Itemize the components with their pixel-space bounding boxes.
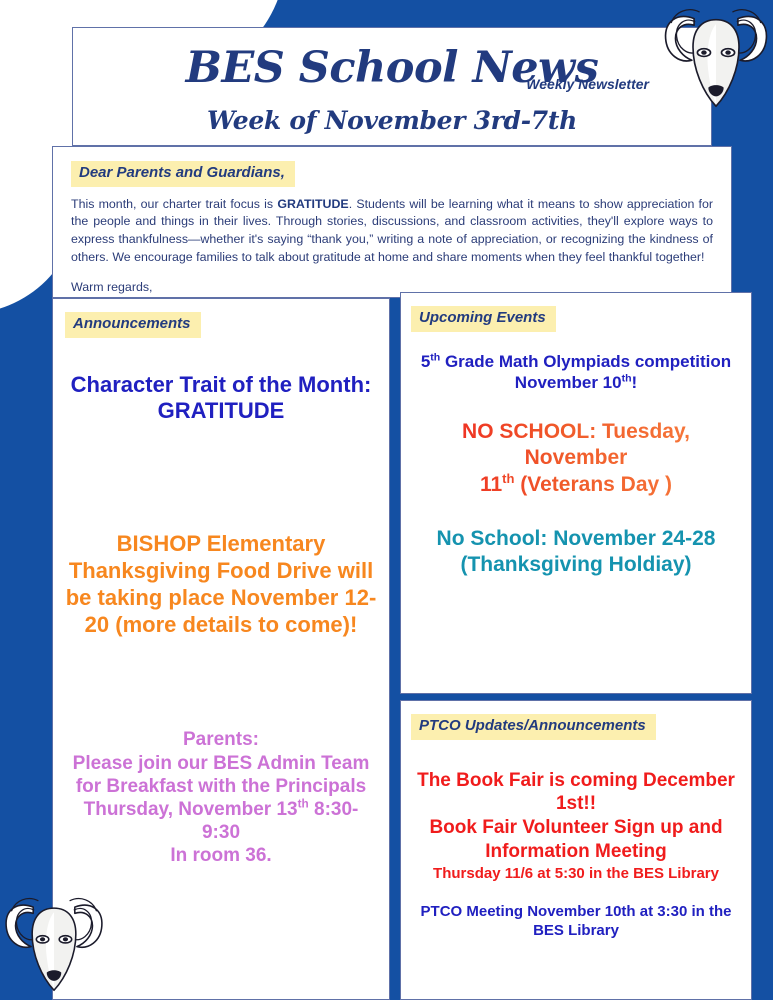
breakfast-line-4: Thursday, November 13th 8:30-9:30 — [65, 798, 377, 844]
weekly-newsletter-label: Weekly Newsletter — [526, 76, 649, 92]
upcoming-events-panel: Upcoming Events 5th Grade Math Olympiads… — [400, 292, 752, 694]
math-grade-sup: th — [430, 351, 440, 363]
letter-body-pre: This month, our charter trait focus is — [71, 197, 277, 211]
letter-body-bold: GRATITUDE — [277, 197, 348, 211]
breakfast-line-2: Please join our BES Admin Team — [65, 752, 377, 775]
newsletter-page: BES School News Weekly Newsletter Week o… — [0, 0, 773, 1000]
math-title: Grade Math Olympiads competition — [440, 352, 731, 371]
letter-greeting: Dear Parents and Guardians, — [71, 161, 295, 187]
math-date-pre: November 10 — [515, 373, 622, 392]
trait-line-1: Character Trait of the Month: — [65, 372, 377, 399]
food-drive-announcement: BISHOP Elementary Thanksgiving Food Driv… — [65, 531, 377, 638]
header-panel: BES School News Weekly Newsletter Week o… — [72, 27, 712, 146]
math-grade: 5 — [421, 352, 430, 371]
noschool-date-pre: 11 — [480, 473, 502, 496]
math-line-1: 5th Grade Math Olympiads competition — [411, 351, 741, 372]
thanksgiving-break-event: No School: November 24-28 (Thanksgiving … — [411, 526, 741, 579]
breakfast-line-1: Parents: — [65, 728, 377, 751]
thanksgiving-line-2: (Thanksgiving Holdiay) — [411, 552, 741, 578]
week-of-subtitle: Week of November 3rd-7th — [73, 106, 711, 135]
noschool-date-sup: th — [502, 471, 514, 486]
bookfair-line-1: The Book Fair is coming December 1st!! — [411, 769, 741, 817]
letter-panel: Dear Parents and Guardians, This month, … — [52, 146, 732, 298]
math-date-post: ! — [632, 373, 638, 392]
ram-mascot-icon — [2, 888, 106, 1000]
breakfast-announcement: Parents: Please join our BES Admin Team … — [65, 728, 377, 867]
announcements-heading: Announcements — [65, 312, 201, 338]
thanksgiving-line-1: No School: November 24-28 — [411, 526, 741, 552]
trait-line-2: GRATITUDE — [65, 398, 377, 425]
upcoming-events-heading: Upcoming Events — [411, 306, 556, 332]
ptco-panel: PTCO Updates/Announcements The Book Fair… — [400, 700, 752, 1000]
noschool-date-post: (Veterans Day ) — [514, 473, 672, 496]
no-school-veterans-day-event: NO SCHOOL: Tuesday, November 11th (Veter… — [411, 419, 741, 498]
bookfair-line-4: Thursday 11/6 at 5:30 in the BES Library — [411, 865, 741, 884]
character-trait-announcement: Character Trait of the Month: GRATITUDE — [65, 372, 377, 426]
breakfast-date-pre: Thursday, November 13 — [84, 799, 298, 820]
breakfast-line-3: for Breakfast with the Principals — [65, 775, 377, 798]
book-fair-announcement: The Book Fair is coming December 1st!! B… — [411, 769, 741, 884]
breakfast-date-sup: th — [298, 798, 309, 811]
noschool-line-2: 11th (Veterans Day ) — [411, 472, 741, 498]
bookfair-line-3: Information Meeting — [411, 840, 741, 864]
ptco-heading: PTCO Updates/Announcements — [411, 714, 656, 740]
letter-body: This month, our charter trait focus is G… — [71, 196, 713, 267]
math-olympiads-event: 5th Grade Math Olympiads competition Nov… — [411, 351, 741, 394]
ptco-meeting-line-1: PTCO Meeting November 10th at 3:30 in th… — [411, 903, 741, 922]
ram-mascot-icon — [661, 0, 771, 115]
noschool-line-1: NO SCHOOL: Tuesday, November — [411, 419, 741, 472]
ptco-meeting-announcement: PTCO Meeting November 10th at 3:30 in th… — [411, 903, 741, 941]
bookfair-line-2: Book Fair Volunteer Sign up and — [411, 816, 741, 840]
math-date-sup: th — [622, 372, 632, 384]
breakfast-line-5: In room 36. — [65, 844, 377, 867]
math-line-2: November 10th! — [411, 372, 741, 393]
ptco-meeting-line-2: BES Library — [411, 922, 741, 941]
